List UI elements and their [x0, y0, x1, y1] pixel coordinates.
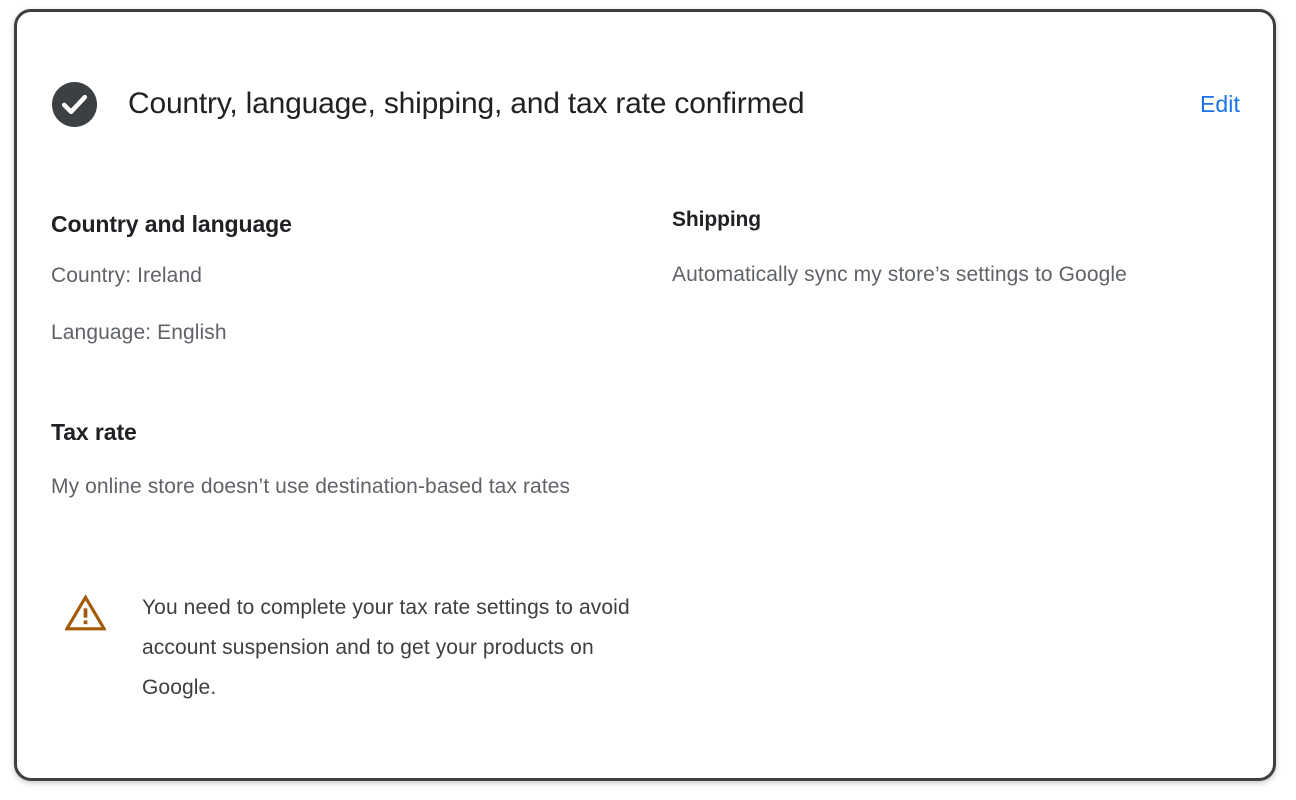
edit-link[interactable]: Edit	[1200, 81, 1240, 127]
tax-rate-section: Tax rate My online store doesn’t use des…	[51, 417, 596, 507]
shipping-heading: Shipping	[672, 206, 1212, 234]
country-value: Country: Ireland	[51, 256, 292, 296]
warning-message: You need to complete your tax rate setti…	[142, 588, 642, 708]
tax-rate-value: My online store doesn’t use destination-…	[51, 467, 596, 507]
warning-triangle-icon	[65, 594, 106, 632]
country-language-section: Country and language Country: Ireland La…	[51, 209, 292, 353]
tax-rate-heading: Tax rate	[51, 417, 596, 447]
shipping-section: Shipping Automatically sync my store’s s…	[672, 206, 1212, 295]
check-circle-icon	[51, 81, 98, 128]
country-language-heading: Country and language	[51, 209, 292, 239]
card-body: Country and language Country: Ireland La…	[17, 162, 1273, 778]
page-title: Country, language, shipping, and tax rat…	[128, 81, 1068, 127]
confirmation-card: Country, language, shipping, and tax rat…	[14, 9, 1276, 781]
card-header: Country, language, shipping, and tax rat…	[17, 12, 1273, 162]
shipping-value: Automatically sync my store’s settings t…	[672, 255, 1212, 295]
language-value: Language: English	[51, 313, 292, 353]
